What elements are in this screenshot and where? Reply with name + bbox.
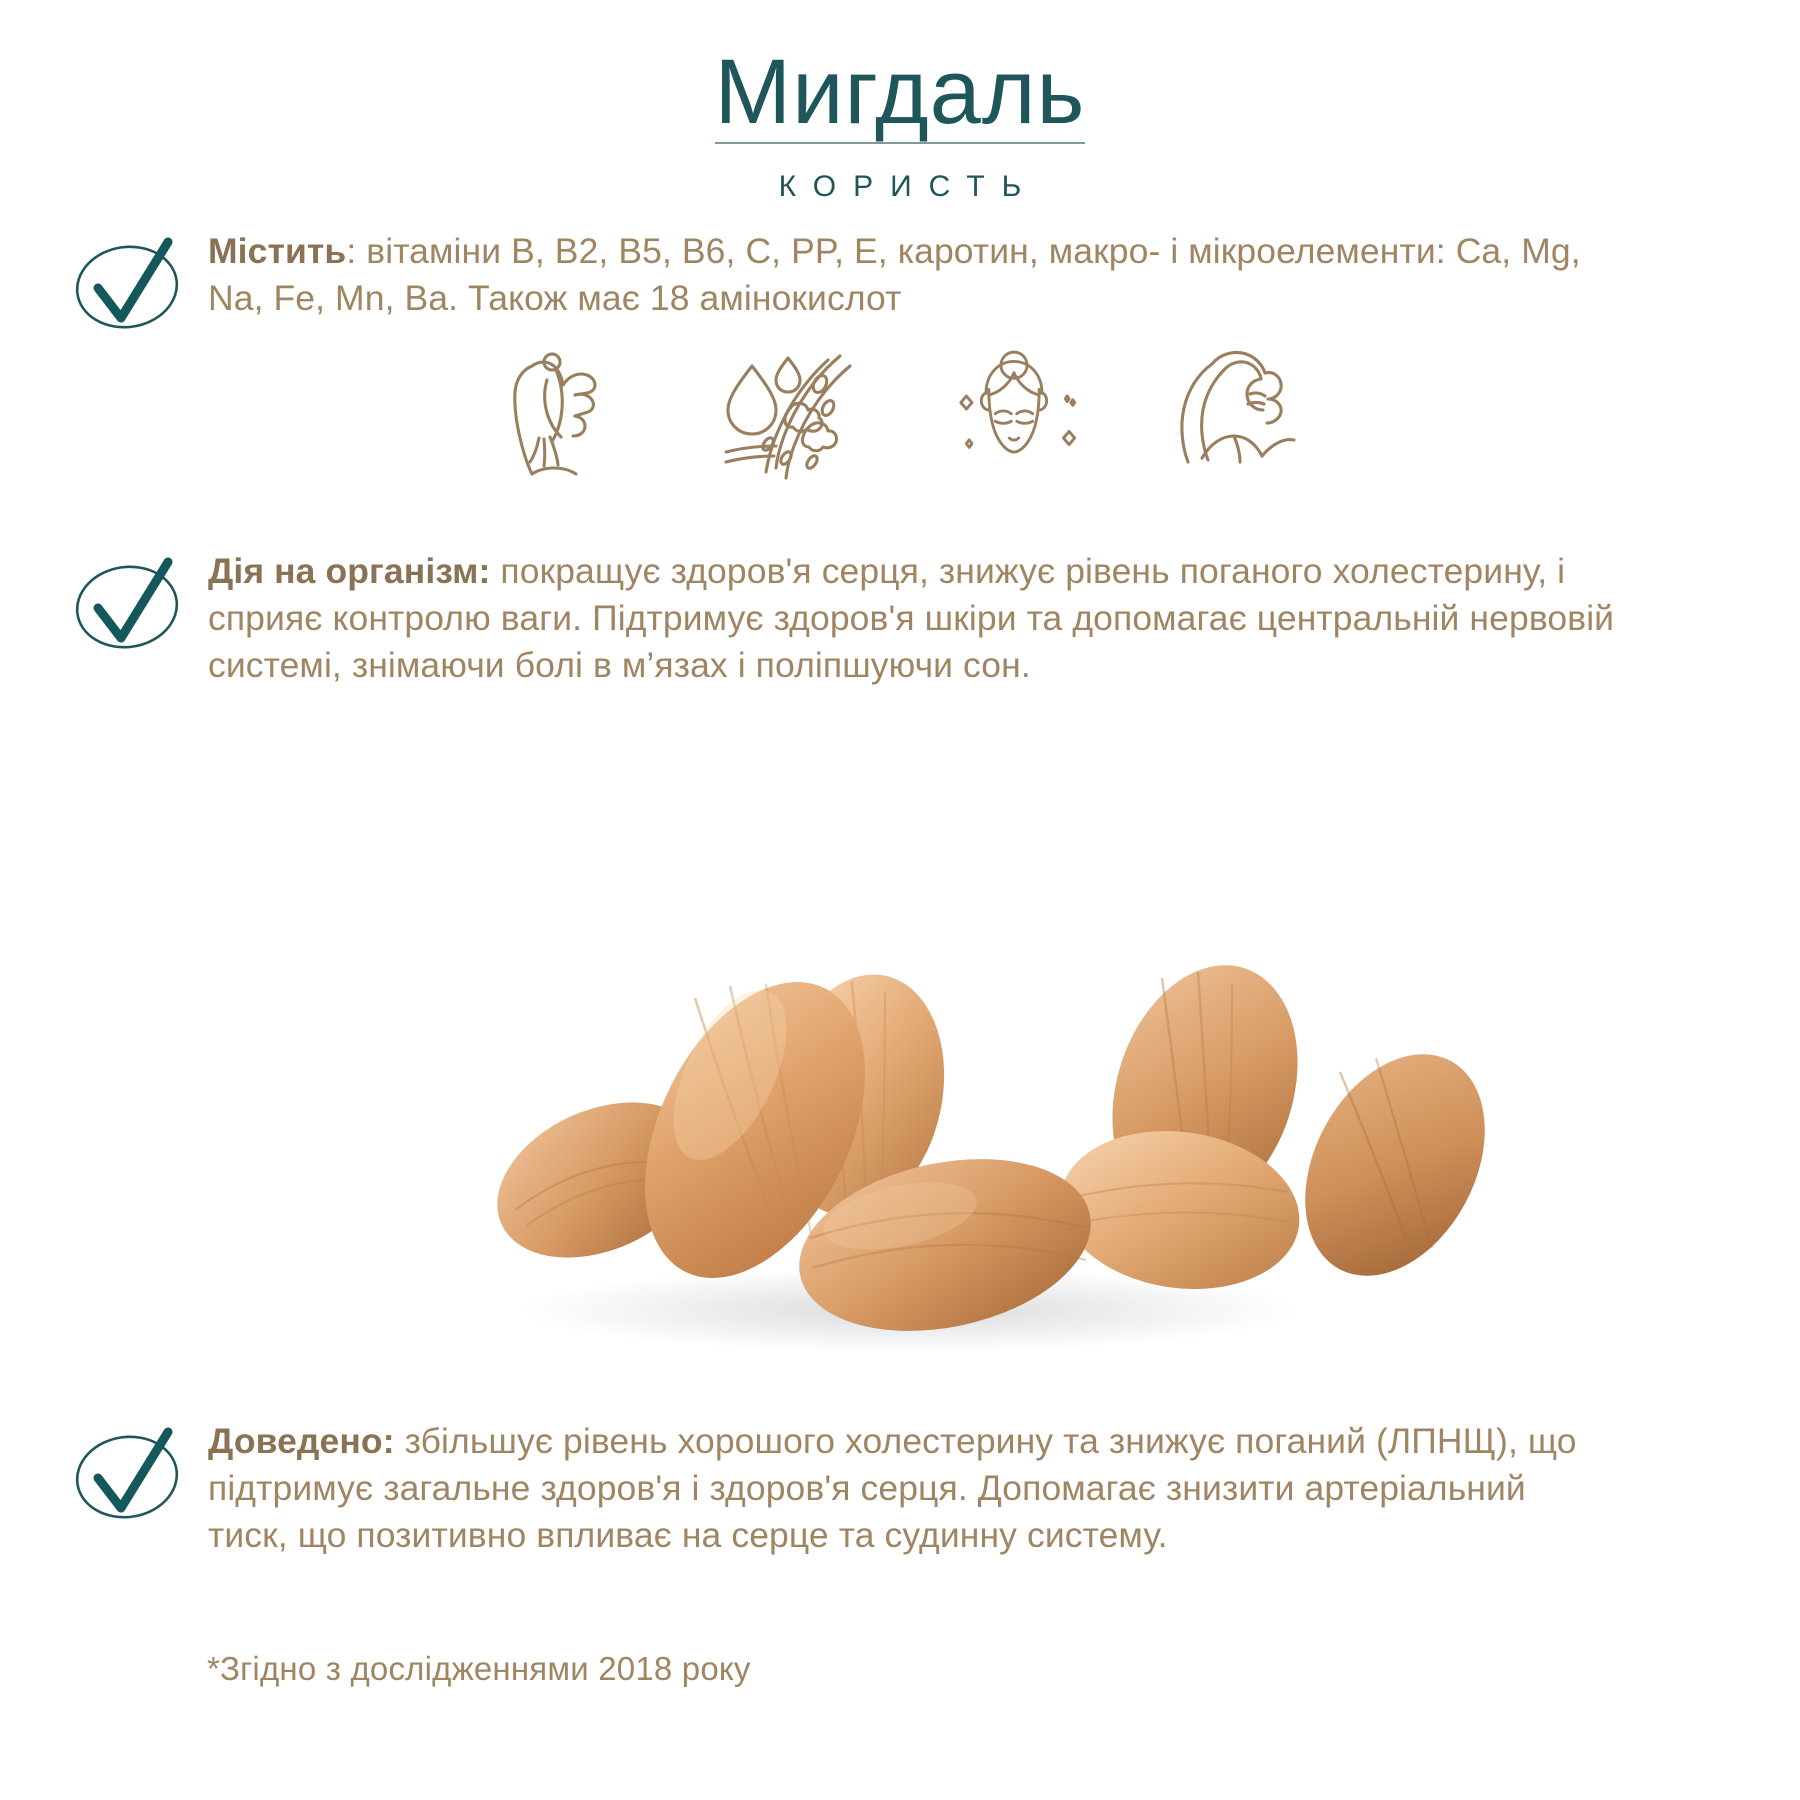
infographic-page: Мигдаль КОРИСТЬ Містить: вітаміни B, B2,… <box>0 0 1800 1800</box>
cholesterol-vessel-icon <box>716 335 856 485</box>
section-proven: Доведено: збільшує рівень хорошого холес… <box>72 1418 1632 1559</box>
section-contains-description: вітаміни B, B2, B5, B6, C, PP, E, кароти… <box>208 231 1581 318</box>
check-mark-icon <box>72 230 190 338</box>
section-contains-lead: Містить <box>208 231 346 271</box>
section-contains-body: Містить: вітаміни B, B2, B5, B6, C, PP, … <box>208 228 1608 322</box>
section-contains-separator: : <box>346 231 366 271</box>
section-effect: Дія на організм: покращує здоров'я серця… <box>72 548 1632 689</box>
header: Мигдаль КОРИСТЬ <box>0 46 1800 204</box>
section-effect-lead: Дія на організм: <box>208 551 490 591</box>
page-title: Мигдаль <box>715 46 1086 138</box>
flexed-bicep-icon <box>1172 335 1312 485</box>
check-mark-icon <box>72 1420 190 1528</box>
section-effect-text: Дія на організм: покращує здоров'я серця… <box>208 548 1623 689</box>
title-block: Мигдаль <box>709 46 1092 152</box>
heart-icon <box>488 335 628 485</box>
footnote: *Згідно з дослідженнями 2018 року <box>207 1650 751 1688</box>
section-effect-separator <box>490 551 500 591</box>
face-skin-icon <box>944 335 1084 485</box>
section-proven-description: збільшує рівень хорошого холестерину та … <box>208 1421 1577 1555</box>
section-proven-body: Доведено: збільшує рівень хорошого холес… <box>208 1418 1608 1559</box>
section-effect-body: Дія на організм: покращує здоров'я серця… <box>208 548 1623 689</box>
benefit-icons-row <box>0 335 1800 485</box>
section-proven-separator <box>395 1421 405 1461</box>
almonds-photo <box>300 880 1520 1360</box>
section-contains: Містить: вітаміни B, B2, B5, B6, C, PP, … <box>72 228 1632 338</box>
check-mark-icon <box>72 550 190 658</box>
section-contains-text: Містить: вітаміни B, B2, B5, B6, C, PP, … <box>208 228 1608 322</box>
section-proven-text: Доведено: збільшує рівень хорошого холес… <box>208 1418 1608 1559</box>
section-proven-lead: Доведено: <box>208 1421 395 1461</box>
page-subtitle: КОРИСТЬ <box>0 170 1800 204</box>
